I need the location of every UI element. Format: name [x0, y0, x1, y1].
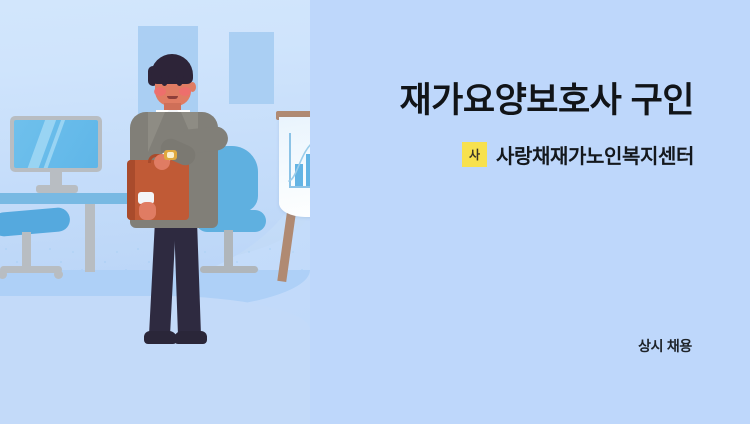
office-chair-left-base	[0, 266, 62, 273]
office-desk-leg	[85, 204, 95, 272]
mouth	[167, 96, 178, 99]
organization-name: 사랑채재가노인복지센터	[496, 140, 694, 169]
organization-badge-icon: 사	[462, 142, 487, 167]
shoe-right	[174, 331, 207, 344]
chair-wheel	[54, 270, 63, 279]
monitor-stand-neck	[50, 172, 62, 186]
hair	[151, 54, 193, 84]
eyebrow-left	[161, 76, 169, 78]
flipchart-paper	[279, 117, 310, 217]
trouser-leg-left	[149, 220, 176, 337]
monitor-screen	[14, 120, 98, 168]
trouser-leg-right	[174, 220, 201, 337]
office-chair-left-post	[22, 232, 31, 270]
businessman-figure	[118, 50, 248, 360]
office-illustration	[0, 0, 310, 424]
cheek-left	[154, 87, 166, 96]
eye-left	[162, 81, 167, 86]
wristwatch-face	[167, 152, 174, 158]
cheek-right	[179, 87, 191, 96]
hiring-status-label: 상시 채용	[638, 336, 692, 356]
hand-left	[139, 202, 156, 220]
shoe-left	[144, 331, 177, 344]
eye-right	[177, 81, 182, 86]
organization-row: 사 사랑채재가노인복지센터	[462, 140, 694, 169]
briefcase-edge	[127, 160, 135, 220]
eyebrow-right	[176, 76, 184, 78]
page-title: 재가요양보호사 구인	[399, 72, 694, 123]
bell-curve-overlay	[287, 129, 310, 187]
monitor-stand-base	[36, 185, 78, 193]
desktop-monitor	[10, 116, 102, 172]
job-posting-banner: 재가요양보호사 구인 사 사랑채재가노인복지센터 상시 채용	[0, 0, 750, 424]
banner-text-content: 재가요양보호사 구인 사 사랑채재가노인복지센터 상시 채용	[310, 0, 750, 424]
